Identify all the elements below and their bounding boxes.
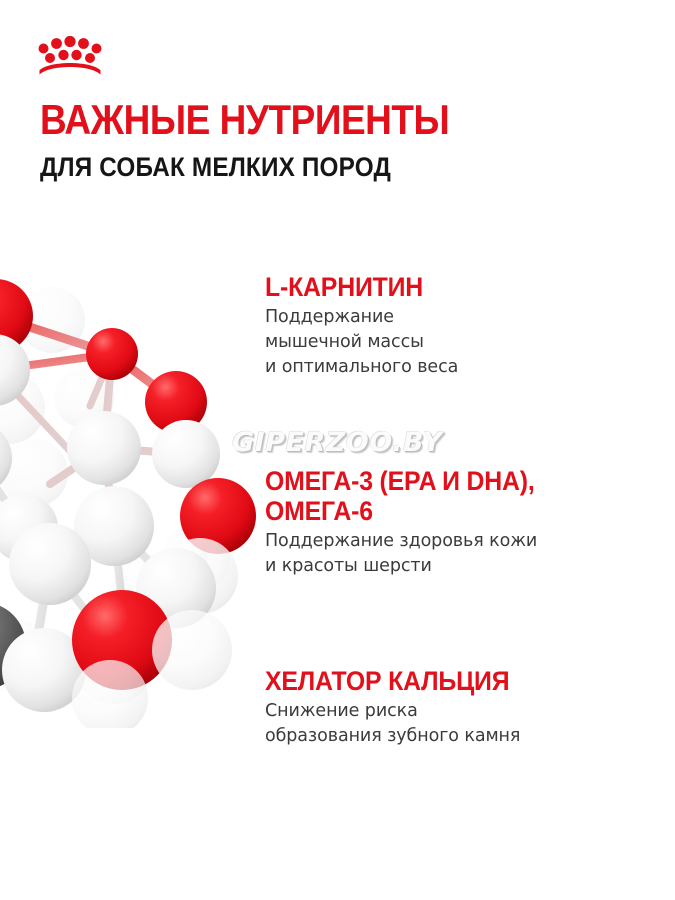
- nutrient-block-carnitine: L-КАРНИТИН Поддержание мышечной массы и …: [265, 272, 665, 380]
- promo-page: ВАЖНЫЕ НУТРИЕНТЫ ДЛЯ СОБАК МЕЛКИХ ПОРОД: [0, 0, 675, 900]
- royal-canin-crown-icon: [36, 34, 104, 76]
- nutrient-block-chelator: ХЕЛАТОР КАЛЬЦИЯ Снижение риска образован…: [265, 666, 665, 749]
- nutrient-title: L-КАРНИТИН: [265, 272, 633, 302]
- nutrient-title: ХЕЛАТОР КАЛЬЦИЯ: [265, 666, 633, 696]
- molecule-illustration: [0, 258, 264, 728]
- nutrient-description: Поддержание здоровья кожи и красоты шерс…: [265, 529, 665, 579]
- page-subtitle: ДЛЯ СОБАК МЕЛКИХ ПОРОД: [40, 152, 391, 182]
- nutrient-description: Снижение риска образования зубного камня: [265, 699, 665, 749]
- nutrient-title: ОМЕГА-3 (EPA И DHA), ОМЕГА-6: [265, 466, 633, 526]
- nutrient-description: Поддержание мышечной массы и оптимальног…: [265, 305, 665, 380]
- page-title: ВАЖНЫЕ НУТРИЕНТЫ: [40, 98, 449, 142]
- nutrient-block-omega: ОМЕГА-3 (EPA И DHA), ОМЕГА-6 Поддержание…: [265, 466, 665, 579]
